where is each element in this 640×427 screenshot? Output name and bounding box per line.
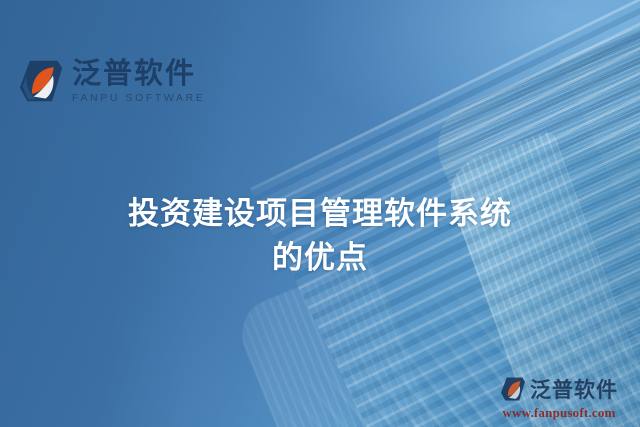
brand-logo-text: 泛普软件 FANPU SOFTWARE bbox=[72, 59, 205, 104]
brand-name-cn: 泛普软件 bbox=[72, 59, 205, 88]
site-watermark: 泛普软件 www.fanpusoft.com bbox=[484, 374, 634, 421]
brand-logo: 泛普软件 FANPU SOFTWARE bbox=[18, 58, 205, 104]
watermark-brand-name: 泛普软件 bbox=[530, 374, 618, 404]
watermark-brand-row: 泛普软件 bbox=[484, 374, 634, 404]
fanpu-sail-diamond-icon bbox=[18, 58, 64, 104]
fanpu-sail-diamond-icon bbox=[500, 376, 526, 402]
promo-banner: 泛普软件 FANPU SOFTWARE 投资建设项目管理软件系统 的优点 泛普软… bbox=[0, 0, 640, 427]
brand-name-en: FANPU SOFTWARE bbox=[72, 93, 205, 104]
watermark-url: www.fanpusoft.com bbox=[484, 405, 634, 421]
banner-headline: 投资建设项目管理软件系统 的优点 bbox=[0, 192, 640, 280]
